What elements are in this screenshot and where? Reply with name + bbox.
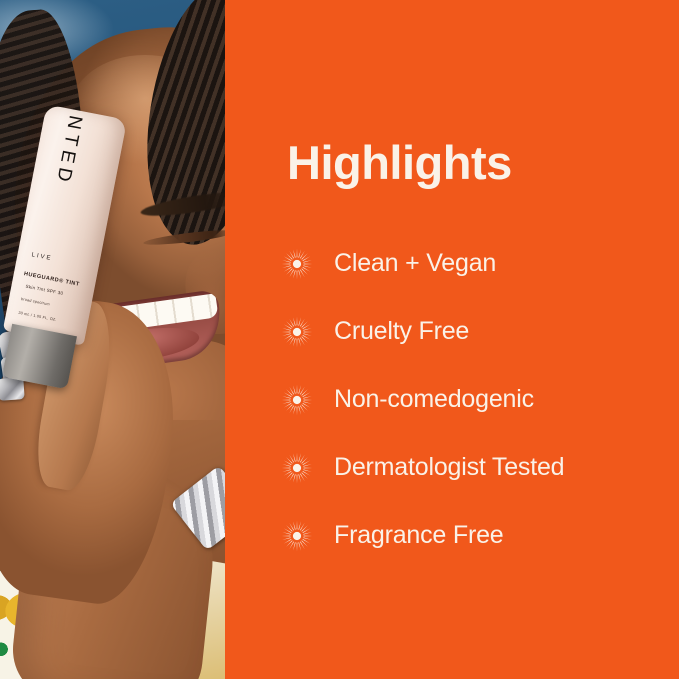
highlight-item: Cruelty Free	[281, 298, 671, 366]
highlight-item: Clean + Vegan	[281, 230, 671, 298]
tube-size: 30 mL / 1.05 FL. OZ.	[18, 311, 57, 322]
tube-descriptor: Skin Tint SPF 30	[25, 284, 64, 296]
silver-ring-bottom	[0, 377, 25, 401]
highlights-panel: Highlights Clean + VeganCruelty FreeNon-…	[225, 0, 679, 679]
highlight-item-label: Clean + Vegan	[334, 250, 496, 278]
highlight-item-label: Dermatologist Tested	[334, 454, 564, 482]
sunburst-icon	[281, 520, 313, 552]
sunburst-icon	[281, 384, 313, 416]
tube-brand-text: TINTED	[51, 104, 91, 188]
highlight-item: Non-comedogenic	[281, 366, 671, 434]
highlight-item: Dermatologist Tested	[281, 434, 671, 502]
tube-sub-brand-text: LIVE	[31, 252, 53, 262]
highlight-item-label: Non-comedogenic	[334, 386, 534, 414]
product-highlights-banner: TINTED LIVE HUEGUARD® TINT Skin Tint SPF…	[0, 0, 679, 679]
sunburst-icon	[281, 248, 313, 280]
tube-claim: broad spectrum	[21, 297, 50, 306]
page-title: Highlights	[287, 139, 512, 186]
highlight-item: Fragrance Free	[281, 502, 671, 570]
sunburst-icon	[281, 316, 313, 348]
sunburst-icon	[281, 452, 313, 484]
highlights-list: Clean + VeganCruelty FreeNon-comedogenic…	[281, 230, 671, 570]
highlight-item-label: Fragrance Free	[334, 522, 504, 550]
highlight-item-label: Cruelty Free	[334, 318, 469, 346]
product-lifestyle-photo: TINTED LIVE HUEGUARD® TINT Skin Tint SPF…	[0, 0, 225, 679]
